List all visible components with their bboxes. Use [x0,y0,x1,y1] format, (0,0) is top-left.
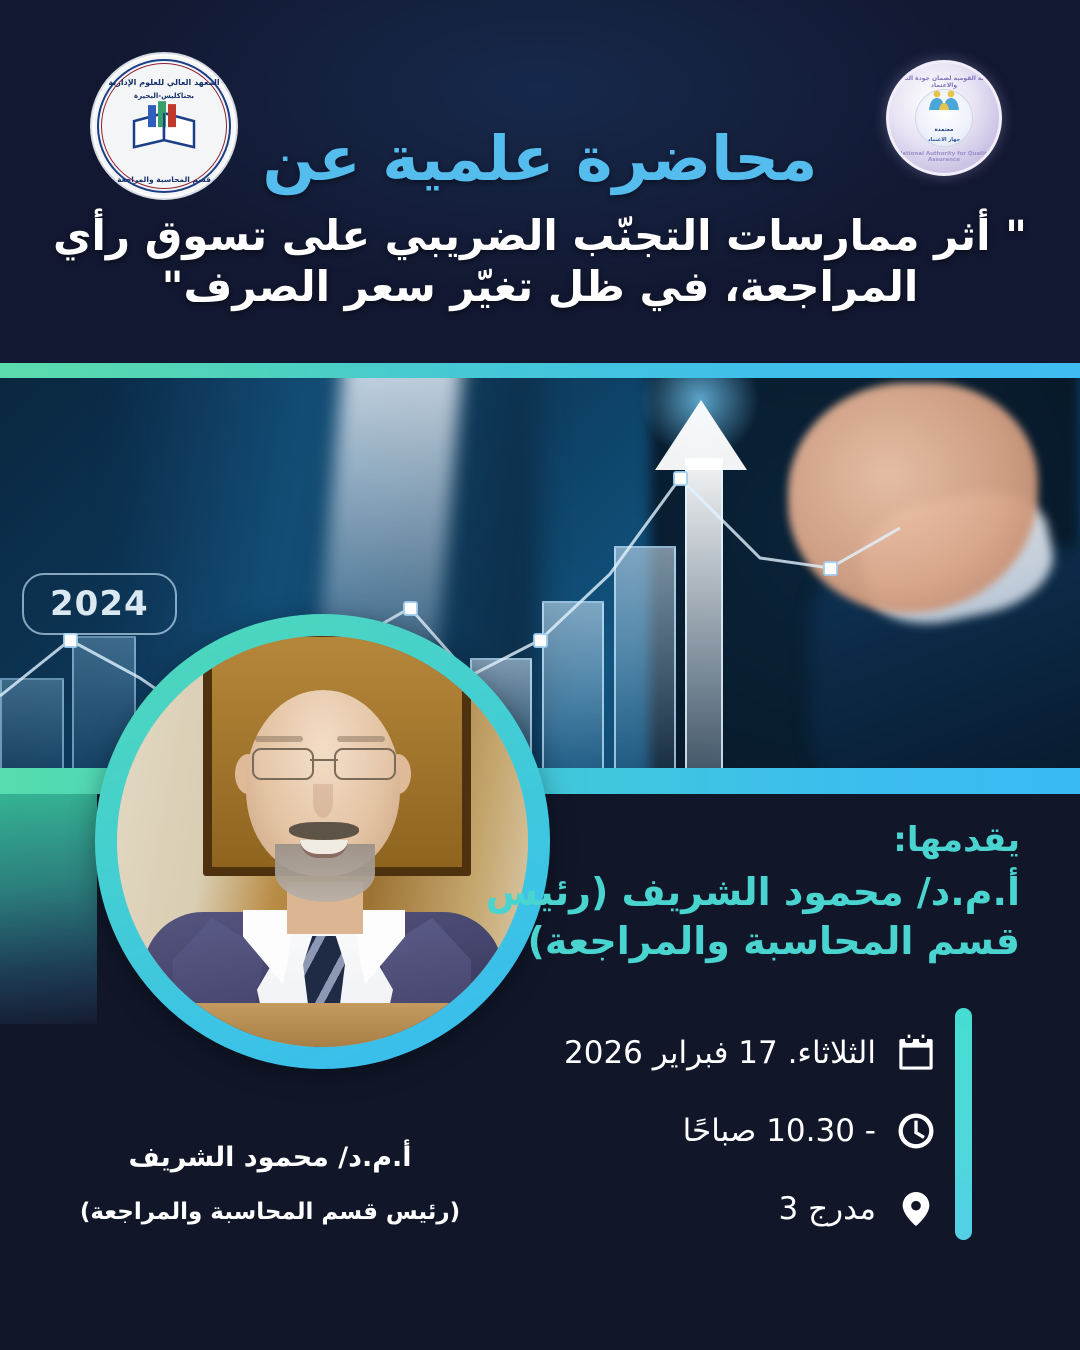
detail-row-location: مدرج 3 [518,1170,938,1248]
speaker-caption: أ.م.د/ محمود الشريف (رئيس قسم المحاسبة و… [60,1142,480,1225]
accreditation-emblem-icon [925,89,963,111]
institute-seal-top-text: المعهد العالي للعلوم الإدارية [90,78,238,87]
presented-by-label: يقدمها: [460,820,1020,860]
hero-year-badge: 2024 [22,573,177,635]
poster-kicker: محاضرة علمية عن [0,128,1080,190]
speaker-caption-role: (رئيس قسم المحاسبة والمراجعة) [60,1199,480,1225]
lecture-poster: المعهد العالي للعلوم الإدارية بجناكليس-ا… [0,0,1080,1350]
detail-text-location: مدرج 3 [779,1191,876,1227]
detail-row-time: - 10.30 صباحًا [518,1092,938,1170]
left-accent-block [0,794,97,1024]
poster-header: المعهد العالي للعلوم الإدارية بجناكليس-ا… [0,0,1080,363]
details-accent-bar [955,1008,972,1240]
clock-icon [894,1109,938,1153]
detail-text-time: - 10.30 صباحًا [683,1113,876,1149]
calendar-icon [894,1031,938,1075]
event-details: الثلاثاء. 17 فبراير 2026 - 10.30 صباحًا … [518,1014,938,1248]
detail-row-date: الثلاثاء. 17 فبراير 2026 [518,1014,938,1092]
divider-band-top [0,363,1080,378]
presenter-name: أ.م.د/ محمود الشريف (رئيس قسم المحاسبة و… [445,868,1020,965]
accreditation-arc-top: الهيئة القومية لضمان جودة التعليم والاعت… [889,75,999,89]
page-title: " أثر ممارسات التجنّب الضريبي على تسوق ر… [28,210,1052,312]
speaker-caption-name: أ.م.د/ محمود الشريف [60,1142,480,1173]
location-pin-icon [894,1187,938,1231]
detail-text-date: الثلاثاء. 17 فبراير 2026 [564,1035,876,1071]
